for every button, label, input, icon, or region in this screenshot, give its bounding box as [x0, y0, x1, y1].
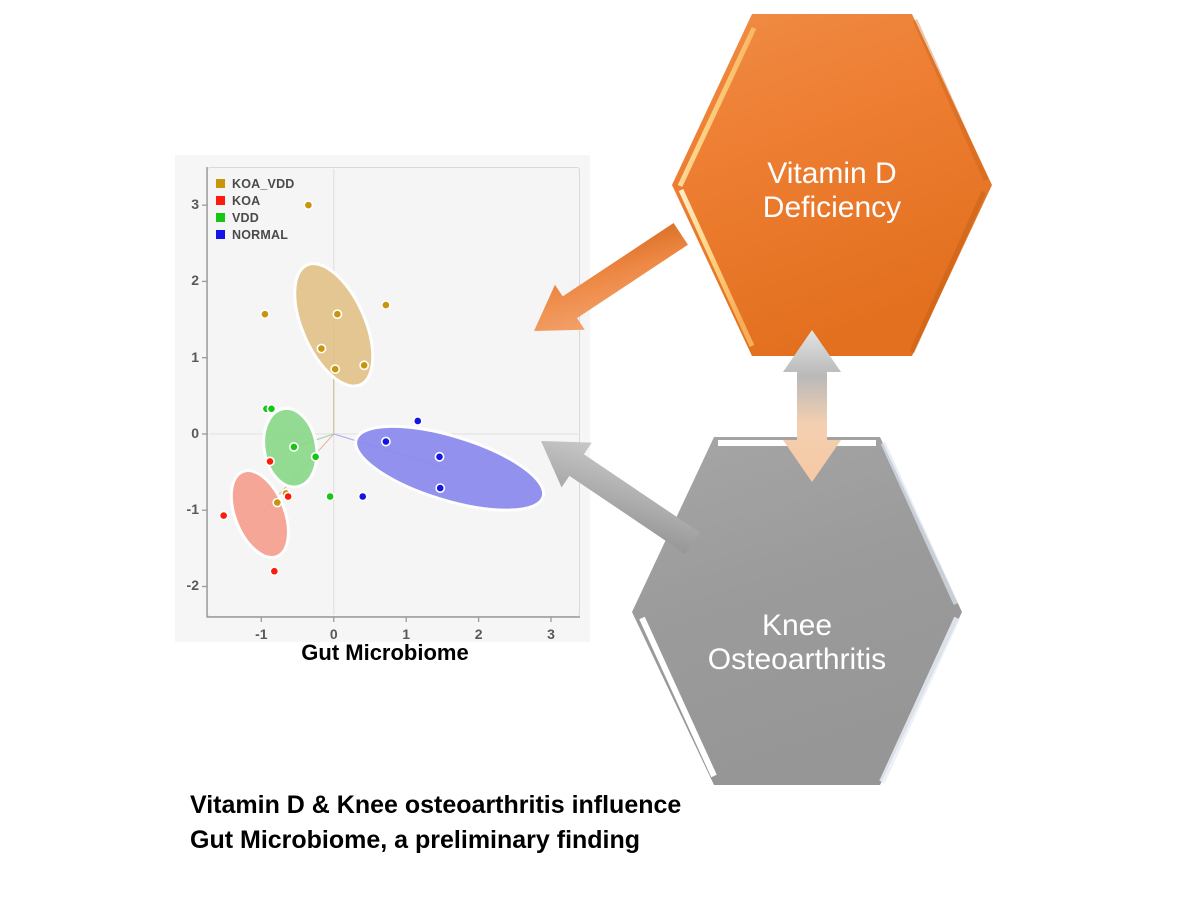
data-point-koa — [284, 492, 292, 500]
hexagon-knee-oa-label: Knee Osteoarthritis — [708, 609, 886, 682]
hexagon-knee-oa-line2: Osteoarthritis — [708, 643, 886, 676]
hexagon-vitamin-d-deficiency[interactable]: Vitamin D Deficiency — [672, 10, 992, 360]
data-point-normal — [435, 453, 443, 461]
hexagon-knee-oa-line1: Knee — [762, 609, 832, 642]
data-point-koa_vdd — [333, 310, 341, 318]
legend-label: NORMAL — [232, 228, 288, 242]
data-point-koa_vdd — [382, 301, 390, 309]
hexagon-vitamin-d-line2: Deficiency — [763, 191, 901, 224]
legend-item-koa[interactable]: KOA — [216, 192, 336, 209]
hexagon-knee-osteoarthritis[interactable]: Knee Osteoarthritis — [632, 432, 962, 790]
data-point-vdd — [290, 443, 298, 451]
legend-swatch-icon — [216, 213, 225, 222]
data-point-koa_vdd — [261, 310, 269, 318]
legend-item-koa_vdd[interactable]: KOA_VDD — [216, 175, 336, 192]
data-point-vdd — [326, 492, 334, 500]
slide-canvas: KOA_VDDKOAVDDNORMAL 3210-1-2-10123 Gut M… — [0, 0, 1200, 915]
bottom-caption: Vitamin D & Knee osteoarthritis influenc… — [190, 788, 950, 857]
legend-label: VDD — [232, 211, 259, 225]
data-point-vdd — [267, 405, 275, 413]
data-point-koa — [270, 567, 278, 575]
y-tick-label: 3 — [175, 196, 199, 212]
data-point-vdd — [312, 453, 320, 461]
legend-swatch-icon — [216, 179, 225, 188]
data-point-koa — [220, 511, 228, 519]
legend-item-normal[interactable]: NORMAL — [216, 226, 336, 243]
data-point-normal — [382, 437, 390, 445]
cluster-ellipse-normal — [347, 409, 553, 527]
plot-legend: KOA_VDDKOAVDDNORMAL — [216, 175, 336, 243]
bottom-caption-line2: Gut Microbiome, a preliminary finding — [190, 823, 950, 858]
legend-label: KOA_VDD — [232, 177, 295, 191]
legend-swatch-icon — [216, 196, 225, 205]
y-tick-label: -2 — [175, 577, 199, 593]
data-point-koa_vdd — [273, 498, 281, 506]
hexagon-vitamin-d-label: Vitamin D Deficiency — [763, 157, 901, 230]
y-tick-label: 2 — [175, 272, 199, 288]
data-point-koa_vdd — [360, 361, 368, 369]
data-point-koa_vdd — [331, 365, 339, 373]
data-point-koa_vdd — [317, 344, 325, 352]
cluster-ellipse-koa_vdd — [279, 252, 389, 397]
data-point-normal — [414, 417, 422, 425]
hexagon-vitamin-d-line1: Vitamin D — [767, 157, 897, 190]
plot-caption: Gut Microbiome — [175, 640, 595, 666]
legend-label: KOA — [232, 194, 260, 208]
y-tick-label: -1 — [175, 501, 199, 517]
legend-swatch-icon — [216, 230, 225, 239]
bottom-caption-line1: Vitamin D & Knee osteoarthritis influenc… — [190, 788, 950, 823]
scatter-plot-card: KOA_VDDKOAVDDNORMAL 3210-1-2-10123 — [175, 155, 590, 642]
data-point-normal — [436, 484, 444, 492]
y-tick-label: 0 — [175, 425, 199, 441]
data-point-koa — [266, 457, 274, 465]
data-point-normal — [359, 492, 367, 500]
legend-item-vdd[interactable]: VDD — [216, 209, 336, 226]
y-tick-label: 1 — [175, 349, 199, 365]
